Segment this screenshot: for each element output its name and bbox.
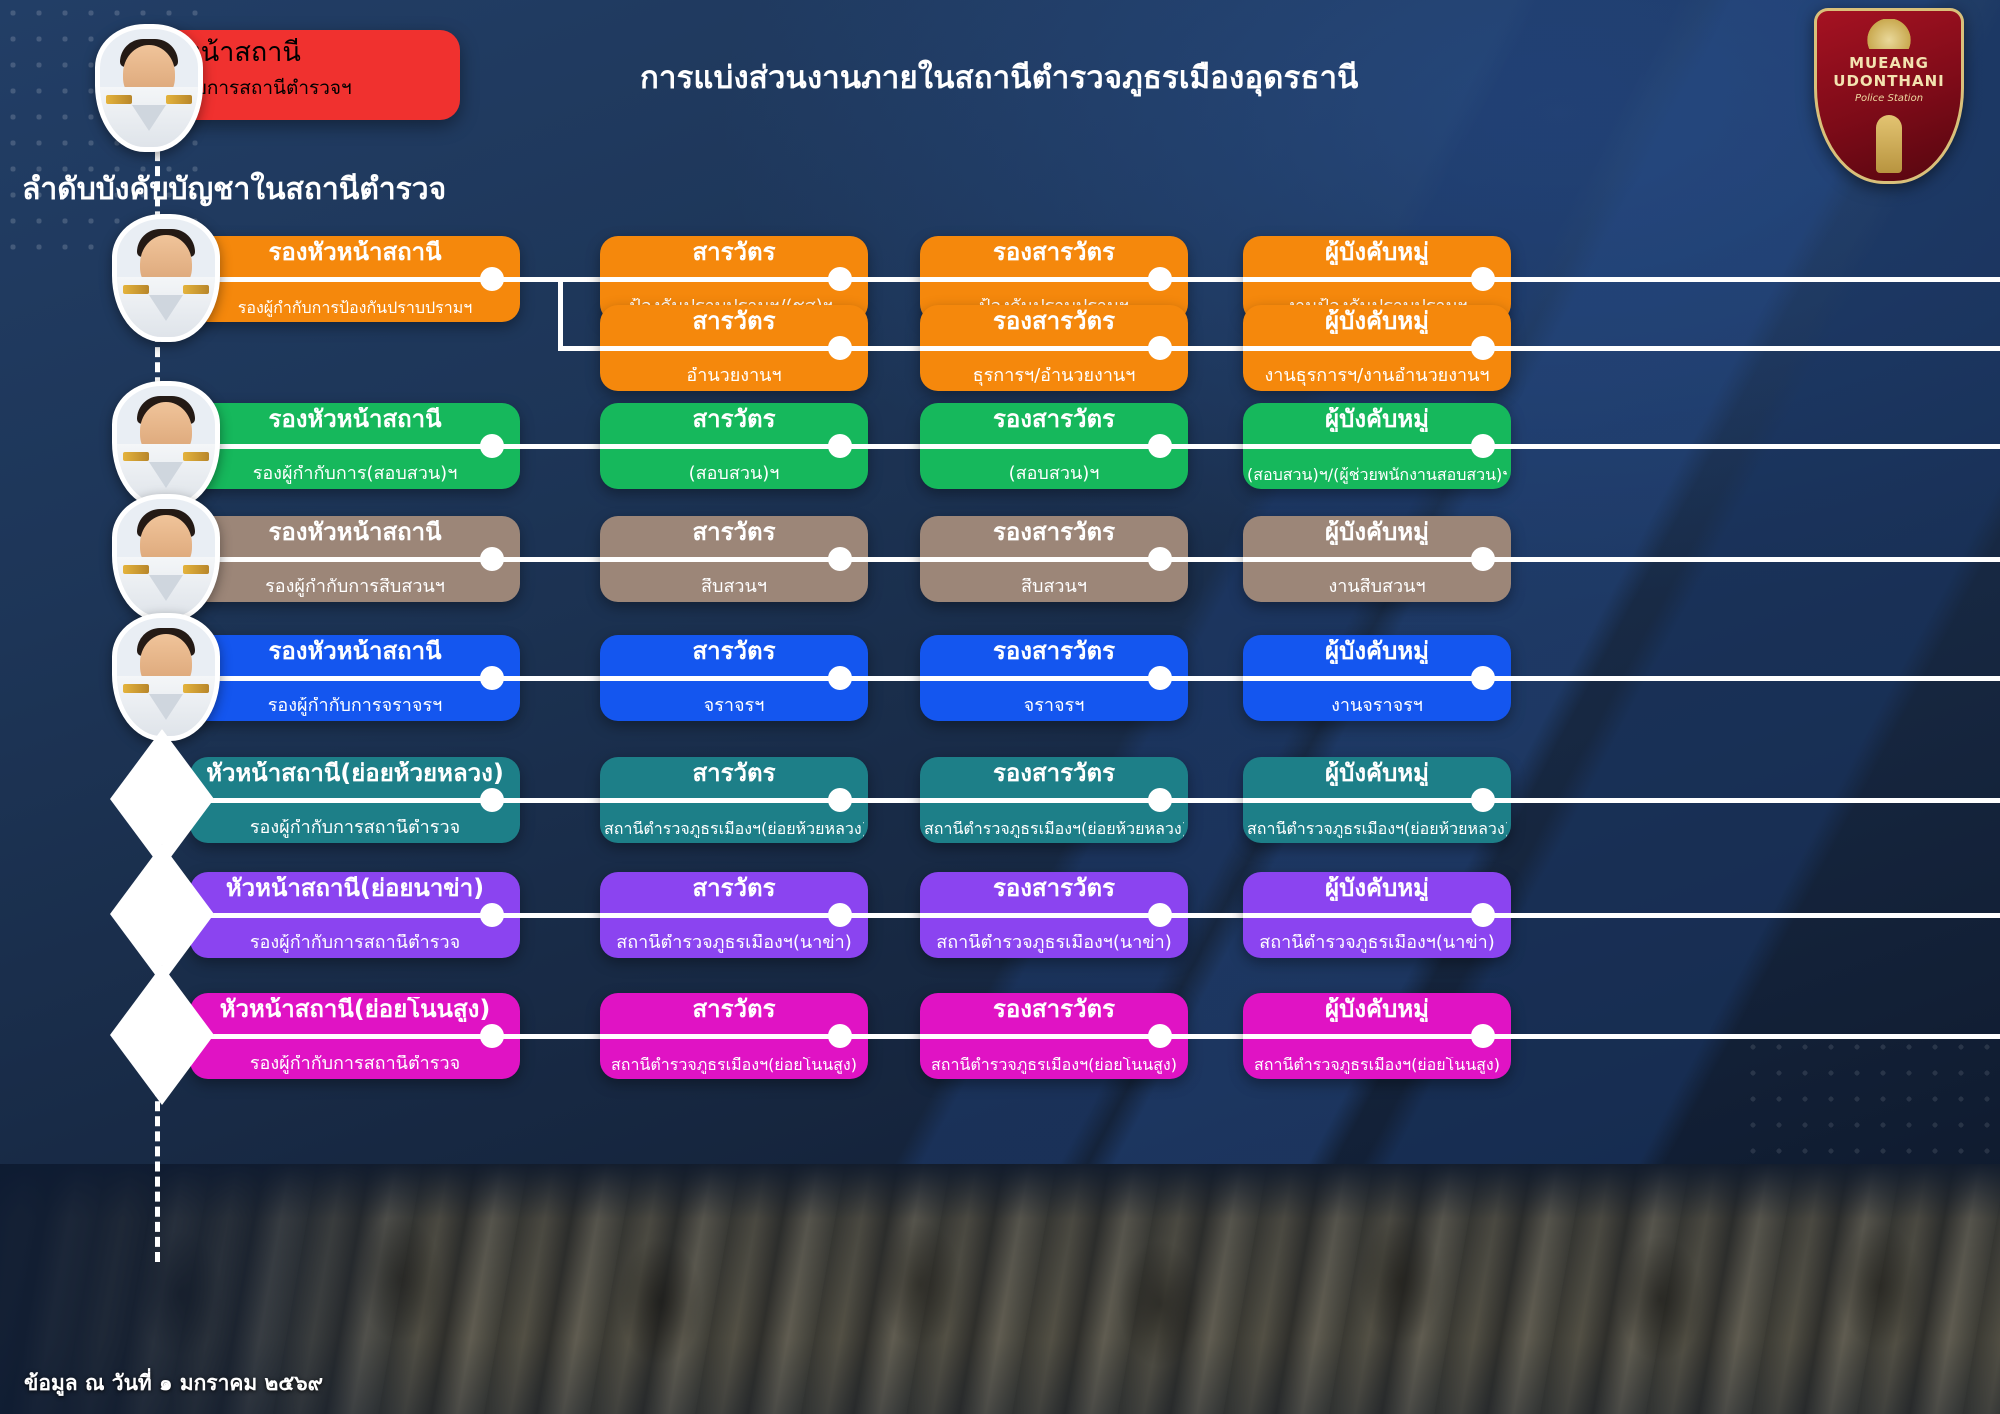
connector-link [520, 557, 600, 562]
branch-bracket [558, 279, 563, 348]
connector-link [520, 277, 563, 282]
shield-icon: MUEANG UDONTHANI Police Station [1814, 8, 1964, 184]
connector-link [520, 1034, 600, 1039]
node-huailuang-b0-c0[interactable]: สารวัตรสถานีตำรวจภูธรเมืองฯ(ย่อยห้วยหลวง… [600, 757, 868, 843]
node-nakha-b0-c2[interactable]: ผู้บังคับหมู่สถานีตำรวจภูธรเมืองฯ(นาข่า) [1243, 872, 1511, 958]
connector-link [1188, 277, 1243, 282]
emblem-subtitle: Police Station [1817, 93, 1961, 104]
node-subtitle: ธุรการฯ/อำนวยงานฯ [924, 367, 1184, 386]
node-rail [190, 557, 520, 562]
avatar-traffic [112, 613, 220, 741]
connector-link [868, 557, 920, 562]
node-subtitle: งานสืบสวนฯ [1247, 578, 1507, 597]
node-subtitle: สถานีตำรวจภูธรเมืองฯ(ย่อยโนนสูง) [924, 1057, 1184, 1074]
node-subtitle: (สอบสวน)ฯ [924, 465, 1184, 484]
node-title: สารวัตร [600, 997, 868, 1022]
node-rail [190, 1034, 520, 1039]
node-title: ผู้บังคับหมู่ [1243, 240, 1511, 265]
node-subtitle: รองผู้กำกับการป้องกันปราบปรามฯ [194, 300, 516, 317]
node-knob [1471, 903, 1495, 927]
node-traffic-b0-c1[interactable]: รองสารวัตรจราจรฯ [920, 635, 1188, 721]
node-inquiry-b0-c0[interactable]: สารวัตรสืบสวนฯ [600, 516, 868, 602]
node-traffic-b0-c2[interactable]: ผู้บังคับหมู่งานจราจรฯ [1243, 635, 1511, 721]
avatar-investigation [112, 381, 220, 509]
node-title: รองหัวหน้าสถานี [190, 407, 520, 432]
node-subtitle: สถานีตำรวจภูธรเมืองฯ(ย่อยห้วยหลวง) [1247, 821, 1507, 838]
node-rail [190, 676, 520, 681]
node-subtitle: รองผู้กำกับการสืบสวนฯ [194, 578, 516, 597]
node-title: หัวหน้าสถานี(ย่อยห้วยหลวง) [190, 761, 520, 786]
connector-link [1188, 676, 1243, 681]
connector-link [1188, 444, 1243, 449]
node-title: สารวัตร [600, 240, 868, 265]
avatar-inquiry [112, 494, 220, 622]
node-subtitle: รองผู้กำกับการ(สอบสวน)ฯ [194, 465, 516, 484]
node-knob [480, 547, 504, 571]
node-title: รองสารวัตร [920, 876, 1188, 901]
node-knob [1148, 788, 1172, 812]
node-subtitle: รองผู้กำกับการจราจรฯ [194, 697, 516, 716]
node-title: ผู้บังคับหมู่ [1243, 407, 1511, 432]
connector-link [1188, 346, 1243, 351]
node-subtitle: สืบสวนฯ [604, 578, 864, 597]
node-title: ผู้บังคับหมู่ [1243, 761, 1511, 786]
node-title: รองหัวหน้าสถานี [190, 240, 520, 265]
node-huailuang-b0-c1[interactable]: รองสารวัตรสถานีตำรวจภูธรเมืองฯ(ย่อยห้วยห… [920, 757, 1188, 843]
node-knob [480, 666, 504, 690]
node-knob [1471, 788, 1495, 812]
node-rail [190, 798, 520, 803]
avatar-collar [149, 295, 183, 321]
node-huailuang-b0-c2[interactable]: ผู้บังคับหมู่สถานีตำรวจภูธรเมืองฯ(ย่อยห้… [1243, 757, 1511, 843]
node-subtitle: สถานีตำรวจภูธรเมืองฯ(นาข่า) [604, 934, 864, 953]
node-title: รองสารวัตร [920, 761, 1188, 786]
node-subtitle: รองผู้กำกับการสถานีตำรวจ [194, 819, 516, 838]
connector-link [1511, 798, 2000, 803]
node-knob [1148, 1024, 1172, 1048]
emblem-figure-icon [1876, 115, 1902, 173]
connector-link [520, 798, 600, 803]
node-title: ผู้บังคับหมู่ [1243, 997, 1511, 1022]
node-title: ผู้บังคับหมู่ [1243, 876, 1511, 901]
node-subtitle: สถานีตำรวจภูธรเมืองฯ(นาข่า) [1247, 934, 1507, 953]
node-prevention-b1-c1[interactable]: รองสารวัตรธุรการฯ/อำนวยงานฯ [920, 305, 1188, 391]
connector-link [1511, 557, 2000, 562]
connector-link [558, 346, 600, 351]
node-knob [1471, 267, 1495, 291]
node-subtitle: สถานีตำรวจภูธรเมืองฯ(ย่อยโนนสูง) [604, 1057, 864, 1074]
node-knob [480, 788, 504, 812]
node-knob [480, 903, 504, 927]
connector-link [1511, 676, 2000, 681]
node-title: รองสารวัตร [920, 240, 1188, 265]
node-nonsung-b0-c1[interactable]: รองสารวัตรสถานีตำรวจภูธรเมืองฯ(ย่อยโนนสู… [920, 993, 1188, 1079]
node-nakha-b0-c1[interactable]: รองสารวัตรสถานีตำรวจภูธรเมืองฯ(นาข่า) [920, 872, 1188, 958]
node-knob [1471, 547, 1495, 571]
avatar-nonsung [110, 965, 214, 1105]
section-title: ลำดับบังคับบัญชาในสถานีตำรวจ [22, 166, 446, 213]
connector-link [1511, 444, 2000, 449]
node-knob [1148, 434, 1172, 458]
node-knob [1471, 336, 1495, 360]
node-subtitle: รองผู้กำกับการสถานีตำรวจ [194, 1055, 516, 1074]
node-title: รองสารวัตร [920, 639, 1188, 664]
page-title: การแบ่งส่วนงานภายในสถานีตำรวจภูธรเมืองอุ… [640, 52, 1359, 102]
node-knob [1471, 434, 1495, 458]
node-inquiry-b0-c1[interactable]: รองสารวัตรสืบสวนฯ [920, 516, 1188, 602]
node-subtitle: (สอบสวน)ฯ [604, 465, 864, 484]
node-leader-prevention[interactable]: รองหัวหน้าสถานีรองผู้กำกับการป้องกันปราบ… [190, 236, 520, 322]
node-leader-inquiry[interactable]: รองหัวหน้าสถานีรองผู้กำกับการสืบสวนฯ [190, 516, 520, 602]
node-subtitle: จราจรฯ [604, 697, 864, 716]
connector-link [868, 1034, 920, 1039]
node-inquiry-b0-c2[interactable]: ผู้บังคับหมู่งานสืบสวนฯ [1243, 516, 1511, 602]
connector-link [558, 277, 600, 282]
node-subtitle: อำนวยงานฯ [604, 367, 864, 386]
emblem-line-2: UDONTHANI [1817, 72, 1961, 90]
crest-icon [1860, 19, 1918, 49]
node-nakha-b0-c0[interactable]: สารวัตรสถานีตำรวจภูธรเมืองฯ(นาข่า) [600, 872, 868, 958]
node-knob [1148, 903, 1172, 927]
node-knob [480, 267, 504, 291]
connector-link [1511, 913, 2000, 918]
avatar-collar [149, 694, 183, 720]
node-subtitle: งานธุรการฯ/งานอำนวยงานฯ [1247, 367, 1507, 386]
node-subtitle: (สอบสวน)ฯ/(ผู้ช่วยพนักงานสอบสวน)ฯ [1247, 467, 1507, 484]
node-knob [828, 434, 852, 458]
avatar-chief [95, 24, 203, 152]
node-title: รองหัวหน้าสถานี [190, 520, 520, 545]
avatar-nakha [110, 844, 214, 984]
node-nonsung-b0-c2[interactable]: ผู้บังคับหมู่สถานีตำรวจภูธรเมืองฯ(ย่อยโน… [1243, 993, 1511, 1079]
node-traffic-b0-c0[interactable]: สารวัตรจราจรฯ [600, 635, 868, 721]
node-title: รองสารวัตร [920, 997, 1188, 1022]
node-title: รองสารวัตร [920, 407, 1188, 432]
node-knob [828, 788, 852, 812]
connector-link [520, 676, 600, 681]
avatar-collar [132, 105, 166, 131]
node-knob [828, 547, 852, 571]
node-subtitle: สถานีตำรวจภูธรเมืองฯ(ย่อยโนนสูง) [1247, 1057, 1507, 1074]
avatar-prevention [112, 214, 220, 342]
node-leader-traffic[interactable]: รองหัวหน้าสถานีรองผู้กำกับการจราจรฯ [190, 635, 520, 721]
connector-link [1511, 1034, 2000, 1039]
node-investigation-b0-c1[interactable]: รองสารวัตร(สอบสวน)ฯ [920, 403, 1188, 489]
node-title: สารวัตร [600, 407, 868, 432]
node-title: หัวหน้าสถานี(ย่อยนาข่า) [190, 876, 520, 901]
node-knob [828, 336, 852, 360]
node-title: ผู้บังคับหมู่ [1243, 639, 1511, 664]
connector-link [1188, 557, 1243, 562]
node-knob [828, 666, 852, 690]
node-subtitle: สถานีตำรวจภูธรเมืองฯ(ย่อยห้วยหลวง) [604, 821, 864, 838]
node-knob [1148, 666, 1172, 690]
node-knob [828, 903, 852, 927]
connector-link [520, 913, 600, 918]
node-title: สารวัตร [600, 761, 868, 786]
connector-link [868, 798, 920, 803]
node-title: รองสารวัตร [920, 520, 1188, 545]
connector-link [1188, 798, 1243, 803]
node-prevention-b1-c2[interactable]: ผู้บังคับหมู่งานธุรการฯ/งานอำนวยงานฯ [1243, 305, 1511, 391]
node-rail [190, 277, 520, 282]
node-title: หัวหน้าสถานี(ย่อยโนนสูง) [190, 997, 520, 1022]
node-knob [480, 434, 504, 458]
node-subtitle: สถานีตำรวจภูธรเมืองฯ(ย่อยห้วยหลวง) [924, 821, 1184, 838]
node-leader-nonsung[interactable]: หัวหน้าสถานี(ย่อยโนนสูง)รองผู้กำกับการสถ… [190, 993, 520, 1079]
connector-link [1188, 1034, 1243, 1039]
node-investigation-b0-c0[interactable]: สารวัตร(สอบสวน)ฯ [600, 403, 868, 489]
node-rail [190, 913, 520, 918]
node-subtitle: รองผู้กำกับการสถานีตำรวจ [194, 934, 516, 953]
node-nonsung-b0-c0[interactable]: สารวัตรสถานีตำรวจภูธรเมืองฯ(ย่อยโนนสูง) [600, 993, 868, 1079]
node-title: สารวัตร [600, 876, 868, 901]
connector-link [868, 277, 920, 282]
connector-link [868, 346, 920, 351]
node-knob [828, 267, 852, 291]
org-chart-canvas: การแบ่งส่วนงานภายในสถานีตำรวจภูธรเมืองอุ… [0, 0, 2000, 1414]
node-knob [1148, 336, 1172, 360]
node-knob [1471, 666, 1495, 690]
connector-link [868, 444, 920, 449]
node-title: รองสารวัตร [920, 309, 1188, 334]
connector-link [1511, 346, 2000, 351]
avatar-collar [149, 462, 183, 488]
node-leader-investigation[interactable]: รองหัวหน้าสถานีรองผู้กำกับการ(สอบสวน)ฯ [190, 403, 520, 489]
node-knob [1148, 267, 1172, 291]
node-title: ผู้บังคับหมู่ [1243, 520, 1511, 545]
node-knob [1148, 547, 1172, 571]
node-title: ผู้บังคับหมู่ [1243, 309, 1511, 334]
emblem-line-1: MUEANG [1817, 54, 1961, 72]
data-as-of-note: ข้อมูล ณ วันที่ ๑ มกราคม ๒๕๖๙ [24, 1367, 323, 1400]
node-subtitle: สถานีตำรวจภูธรเมืองฯ(นาข่า) [924, 934, 1184, 953]
connector-link [868, 913, 920, 918]
connector-link [1188, 913, 1243, 918]
node-title: สารวัตร [600, 309, 868, 334]
decorative-dot-pattern-bottom-right [1740, 1034, 2000, 1264]
node-leader-nakha[interactable]: หัวหน้าสถานี(ย่อยนาข่า)รองผู้กำกับการสถา… [190, 872, 520, 958]
node-subtitle: สืบสวนฯ [924, 578, 1184, 597]
avatar-collar [149, 575, 183, 601]
node-subtitle: งานจราจรฯ [1247, 697, 1507, 716]
connector-link [520, 444, 600, 449]
connector-link [868, 676, 920, 681]
node-investigation-b0-c2[interactable]: ผู้บังคับหมู่(สอบสวน)ฯ/(ผู้ช่วยพนักงานสอ… [1243, 403, 1511, 489]
node-knob [480, 1024, 504, 1048]
node-knob [828, 1024, 852, 1048]
node-prevention-b1-c0[interactable]: สารวัตรอำนวยงานฯ [600, 305, 868, 391]
police-emblem: MUEANG UDONTHANI Police Station [1814, 8, 1964, 184]
node-leader-huailuang[interactable]: หัวหน้าสถานี(ย่อยห้วยหลวง)รองผู้กำกับการ… [190, 757, 520, 843]
node-subtitle: จราจรฯ [924, 697, 1184, 716]
node-title: รองหัวหน้าสถานี [190, 639, 520, 664]
node-title: สารวัตร [600, 639, 868, 664]
node-rail [190, 444, 520, 449]
connector-link [1511, 277, 2000, 282]
node-knob [1471, 1024, 1495, 1048]
node-title: สารวัตร [600, 520, 868, 545]
